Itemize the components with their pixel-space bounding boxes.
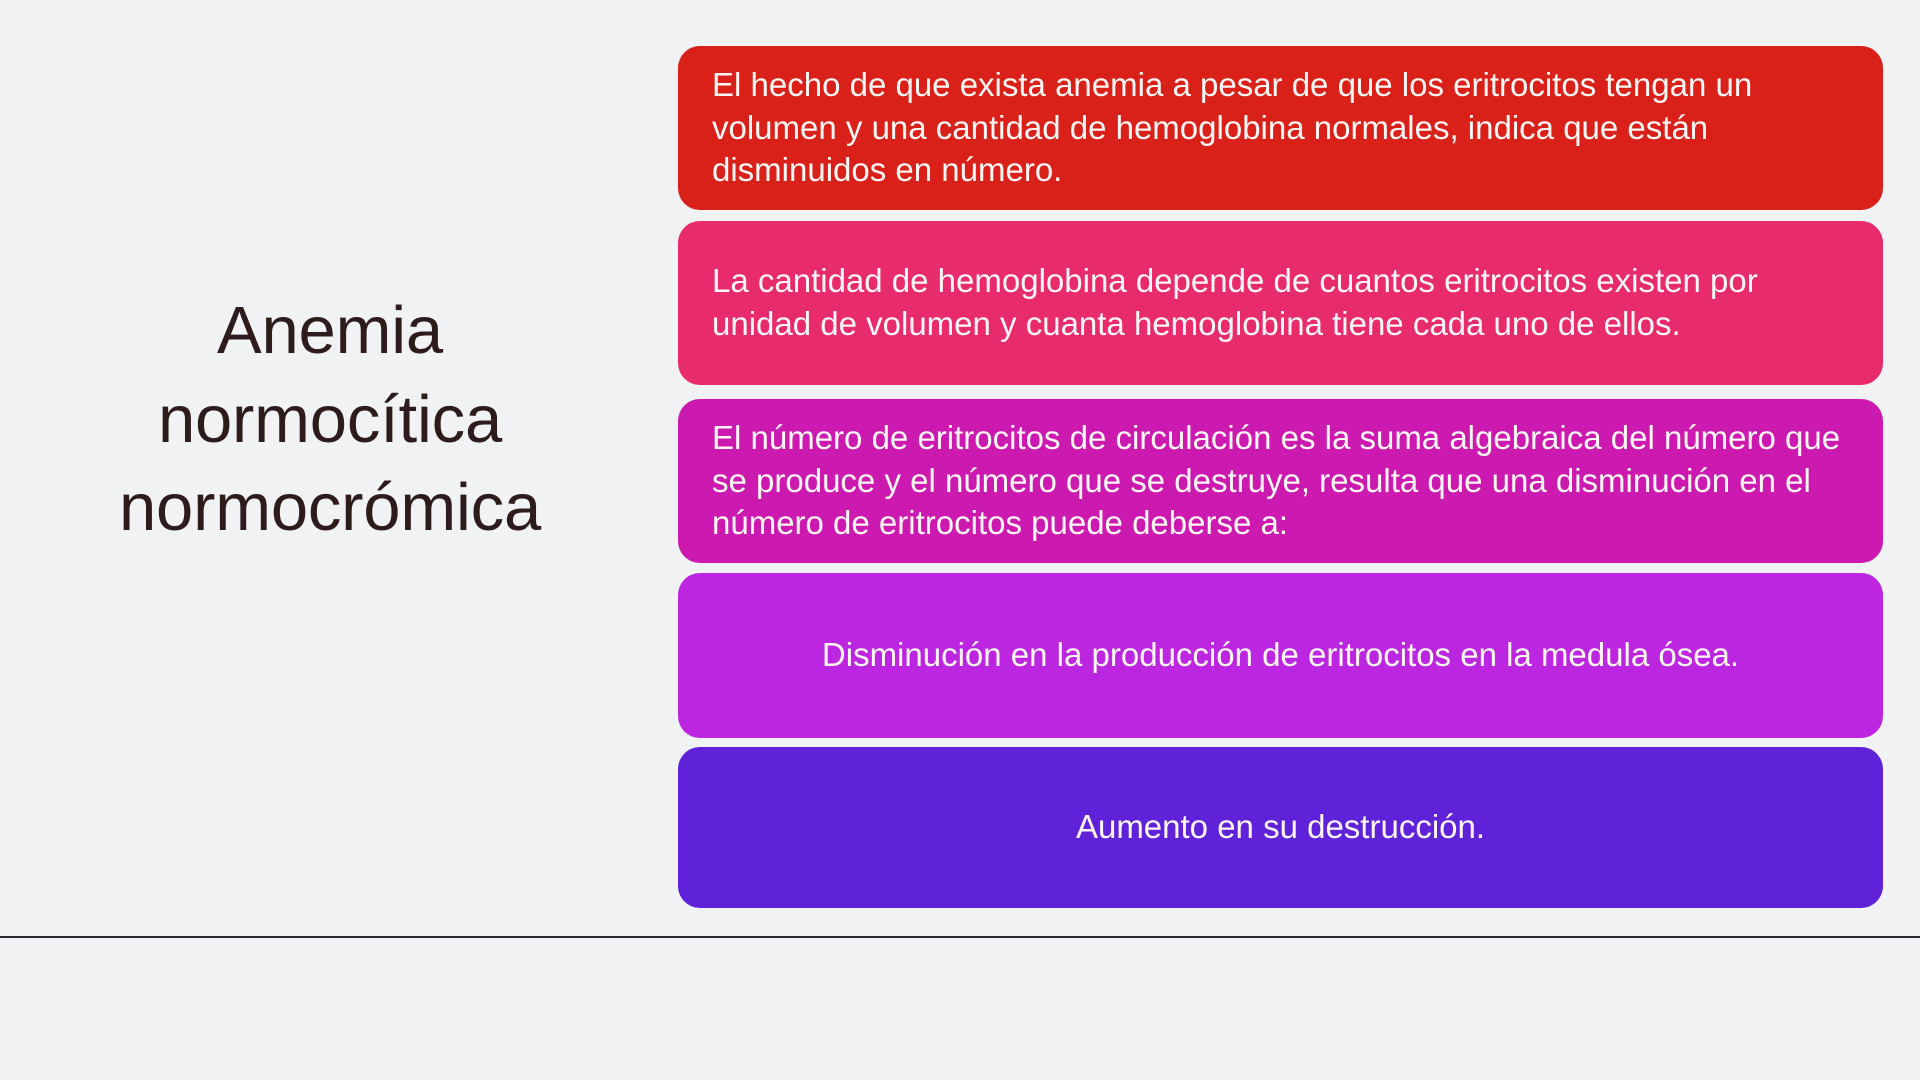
- content-bar-2-text: La cantidad de hemoglobina depende de cu…: [712, 260, 1849, 346]
- content-bar-1-text: El hecho de que exista anemia a pesar de…: [712, 64, 1849, 193]
- slide-title-container: Anemia normocítica normocrómica: [0, 170, 660, 670]
- content-bar-5[interactable]: Aumento en su destrucción.: [678, 747, 1883, 908]
- content-bar-2[interactable]: La cantidad de hemoglobina depende de cu…: [678, 221, 1883, 385]
- page-title: Anemia normocítica normocrómica: [119, 287, 541, 552]
- presentation-slide: Anemia normocítica normocrómica El hecho…: [0, 0, 1920, 1080]
- content-bar-3[interactable]: El número de eritrocitos de circulación …: [678, 399, 1883, 563]
- colored-bar-stack: El hecho de que exista anemia a pesar de…: [678, 46, 1883, 908]
- content-bar-3-text: El número de eritrocitos de circulación …: [712, 417, 1849, 546]
- content-bar-1[interactable]: El hecho de que exista anemia a pesar de…: [678, 46, 1883, 210]
- content-bar-4-text: Disminución en la producción de eritroci…: [712, 634, 1849, 677]
- content-bar-5-text: Aumento en su destrucción.: [712, 806, 1849, 849]
- content-bar-4[interactable]: Disminución en la producción de eritroci…: [678, 573, 1883, 738]
- slide-footer-area: [0, 938, 1920, 1080]
